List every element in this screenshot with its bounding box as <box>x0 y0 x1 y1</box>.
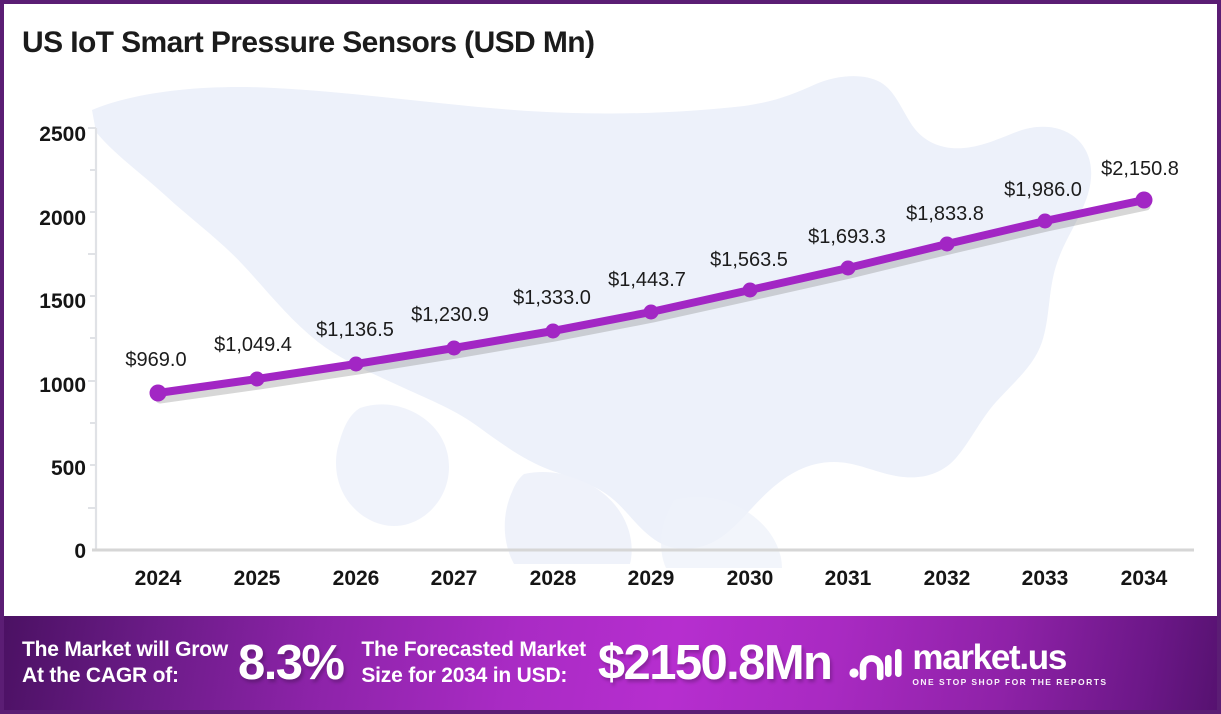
chart-card: US IoT Smart Pressure Sensors (USD Mn) <box>4 4 1217 616</box>
infographic-frame: US IoT Smart Pressure Sensors (USD Mn) <box>0 0 1221 714</box>
cagr-caption-line2: At the CAGR of: <box>22 663 228 689</box>
cagr-block: The Market will Grow At the CAGR of: 8.3… <box>22 616 343 710</box>
forecast-value: $2150.8Mn <box>598 635 831 691</box>
data-point-label: $1,049.4 <box>214 334 292 357</box>
cagr-caption: The Market will Grow At the CAGR of: <box>22 637 228 689</box>
logo-tagline: ONE STOP SHOP FOR THE REPORTS <box>912 678 1107 687</box>
logo-wordmark: market.us <box>912 640 1107 675</box>
data-point-label: $1,136.5 <box>316 319 394 342</box>
data-point-label: $2,150.8 <box>1101 158 1179 181</box>
data-point-label: $1,443.7 <box>608 269 686 292</box>
data-point-label: $1,230.9 <box>411 304 489 327</box>
forecast-caption-line1: The Forecasted Market <box>361 637 586 663</box>
market-us-logo-icon <box>849 643 903 683</box>
forecast-caption: The Forecasted Market Size for 2034 in U… <box>361 637 586 689</box>
footer-banner: The Market will Grow At the CAGR of: 8.3… <box>4 616 1217 710</box>
logo-text: market.us ONE STOP SHOP FOR THE REPORTS <box>912 640 1107 687</box>
data-point-label: $969.0 <box>125 349 186 372</box>
market-us-logo[interactable]: market.us ONE STOP SHOP FOR THE REPORTS <box>849 616 1107 710</box>
data-point-label: $1,986.0 <box>1004 179 1082 202</box>
data-point-label: $1,563.5 <box>710 249 788 272</box>
data-point-label: $1,693.3 <box>808 226 886 249</box>
cagr-caption-line1: The Market will Grow <box>22 637 228 663</box>
data-point-label: $1,333.0 <box>513 287 591 310</box>
data-point-label: $1,833.8 <box>906 203 984 226</box>
forecast-block: The Forecasted Market Size for 2034 in U… <box>361 616 831 710</box>
forecast-caption-line2: Size for 2034 in USD: <box>361 663 586 689</box>
data-point-labels: $969.0 $1,049.4 $1,136.5 $1,230.9 $1,333… <box>4 4 1217 616</box>
cagr-value: 8.3% <box>238 635 343 691</box>
